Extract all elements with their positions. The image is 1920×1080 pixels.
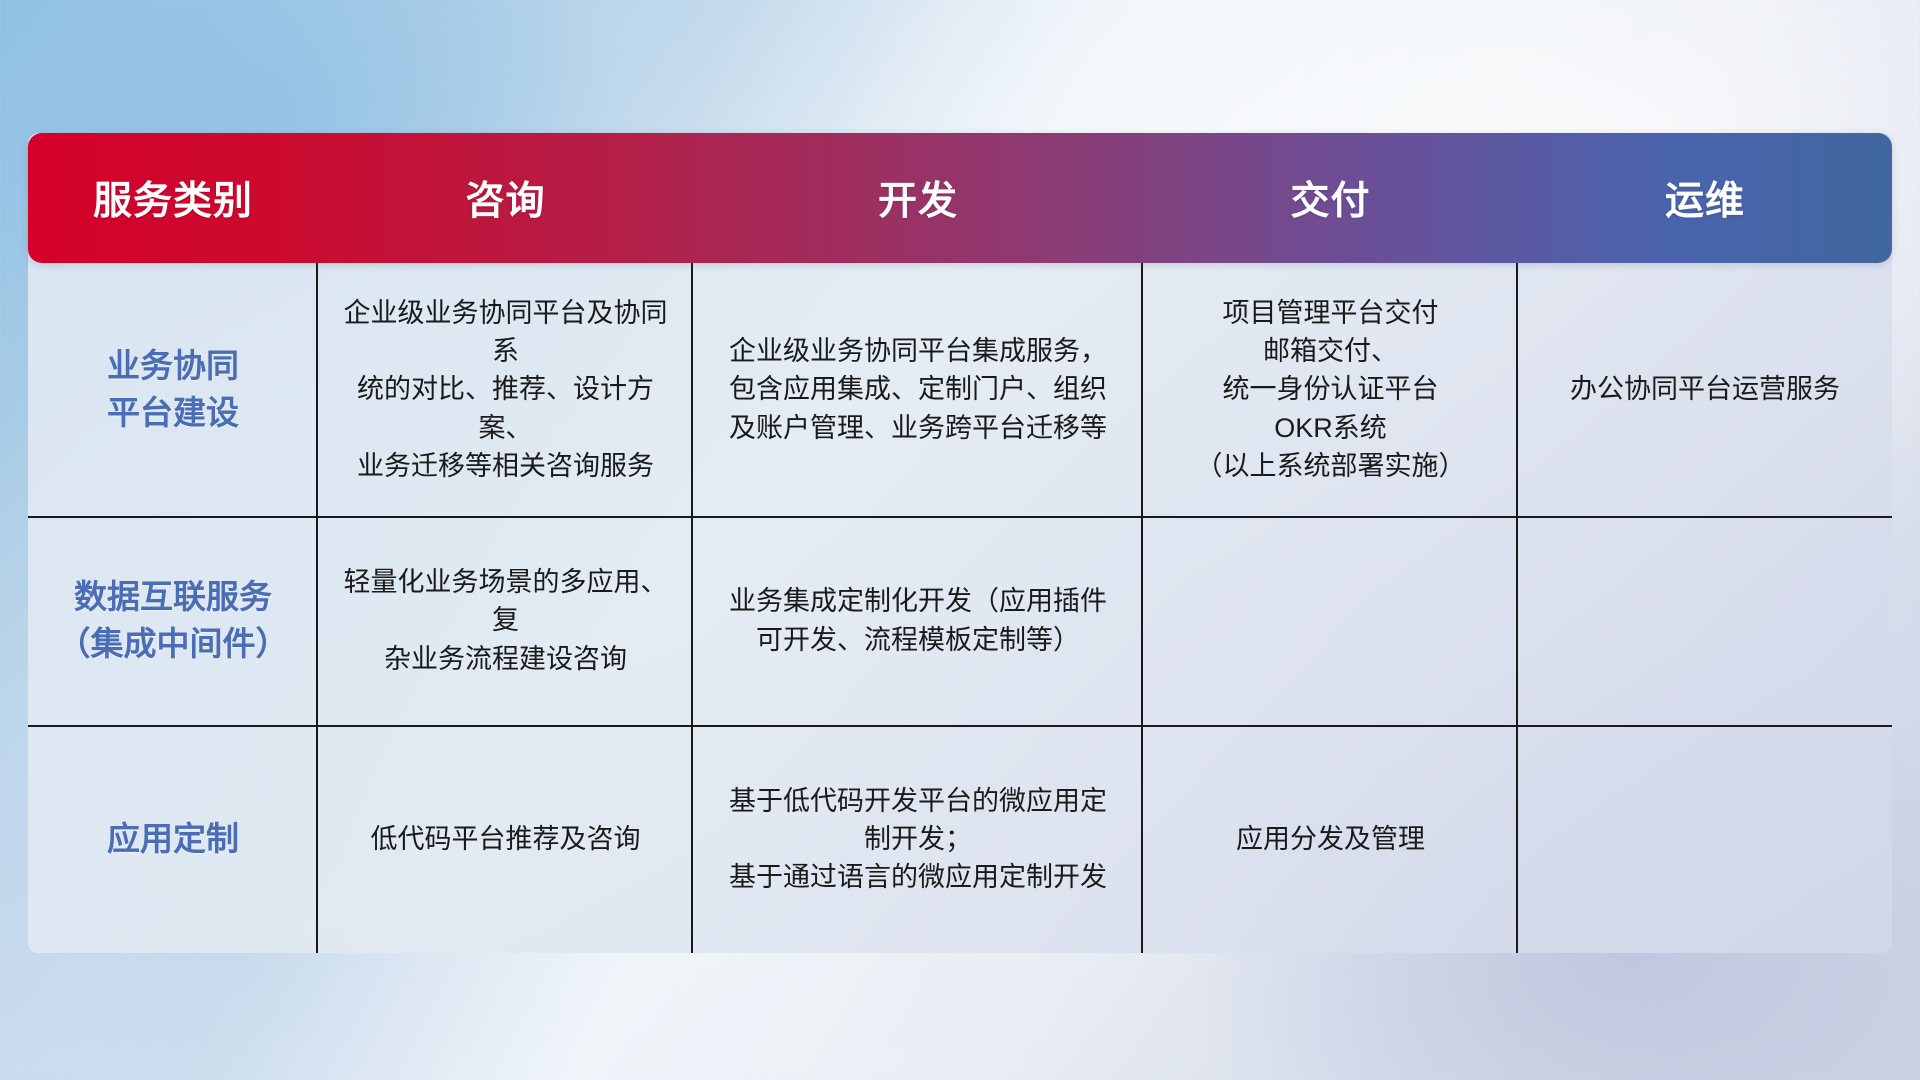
cell-consulting: 企业级业务协同平台及协同系 统的对比、推荐、设计方案、 业务迁移等相关咨询服务 bbox=[318, 263, 693, 516]
cell-consulting: 轻量化业务场景的多应用、复 杂业务流程建设咨询 bbox=[318, 516, 693, 725]
cell-delivery: 应用分发及管理 bbox=[1143, 725, 1518, 953]
service-category-table: 服务类别 咨询 开发 交付 运维 业务协同 平台建设 企业级业务协同平台及协同系… bbox=[28, 133, 1892, 953]
cell-text: 轻量化业务场景的多应用、复 杂业务流程建设咨询 bbox=[332, 563, 679, 678]
table-row: 业务协同 平台建设 企业级业务协同平台及协同系 统的对比、推荐、设计方案、 业务… bbox=[28, 263, 1892, 516]
cell-development: 业务集成定制化开发（应用插件 可开发、流程模板定制等） bbox=[693, 516, 1143, 725]
cell-operations bbox=[1518, 516, 1892, 725]
cell-consulting: 低代码平台推荐及咨询 bbox=[318, 725, 693, 953]
cell-text: 基于低代码开发平台的微应用定 制开发； 基于通过语言的微应用定制开发 bbox=[729, 782, 1107, 897]
slide-canvas: 服务类别 咨询 开发 交付 运维 业务协同 平台建设 企业级业务协同平台及协同系… bbox=[0, 0, 1920, 1080]
table-body-rows: 业务协同 平台建设 企业级业务协同平台及协同系 统的对比、推荐、设计方案、 业务… bbox=[28, 263, 1892, 953]
cell-text: 低代码平台推荐及咨询 bbox=[371, 820, 641, 858]
cell-category: 业务协同 平台建设 bbox=[28, 263, 318, 516]
cell-delivery: 项目管理平台交付 邮箱交付、 统一身份认证平台 OKR系统 （以上系统部署实施） bbox=[1143, 263, 1518, 516]
table-header-row: 服务类别 咨询 开发 交付 运维 bbox=[28, 133, 1892, 263]
header-cell-category: 服务类别 bbox=[28, 170, 318, 226]
cell-text: 企业级业务协同平台集成服务， 包含应用集成、定制门户、组织 及账户管理、业务跨平… bbox=[729, 332, 1107, 447]
category-label: 业务协同 平台建设 bbox=[107, 343, 239, 437]
header-cell-operations: 运维 bbox=[1518, 170, 1892, 226]
cell-category: 应用定制 bbox=[28, 725, 318, 953]
cell-development: 企业级业务协同平台集成服务， 包含应用集成、定制门户、组织 及账户管理、业务跨平… bbox=[693, 263, 1143, 516]
cell-operations bbox=[1518, 725, 1892, 953]
cell-category: 数据互联服务 （集成中间件） bbox=[28, 516, 318, 725]
cell-development: 基于低代码开发平台的微应用定 制开发； 基于通过语言的微应用定制开发 bbox=[693, 725, 1143, 953]
table-row: 应用定制 低代码平台推荐及咨询 基于低代码开发平台的微应用定 制开发； 基于通过… bbox=[28, 725, 1892, 953]
category-label: 数据互联服务 （集成中间件） bbox=[58, 574, 289, 668]
cell-operations: 办公协同平台运营服务 bbox=[1518, 263, 1892, 516]
header-cell-development: 开发 bbox=[693, 170, 1143, 226]
cell-text: 项目管理平台交付 邮箱交付、 统一身份认证平台 OKR系统 （以上系统部署实施） bbox=[1196, 294, 1466, 486]
cell-text: 企业级业务协同平台及协同系 统的对比、推荐、设计方案、 业务迁移等相关咨询服务 bbox=[332, 294, 679, 486]
cell-text: 业务集成定制化开发（应用插件 可开发、流程模板定制等） bbox=[729, 582, 1107, 659]
cell-text: 应用分发及管理 bbox=[1236, 820, 1425, 858]
cell-delivery bbox=[1143, 516, 1518, 725]
header-cell-consulting: 咨询 bbox=[318, 170, 693, 226]
table-row: 数据互联服务 （集成中间件） 轻量化业务场景的多应用、复 杂业务流程建设咨询 业… bbox=[28, 516, 1892, 725]
category-label: 应用定制 bbox=[107, 816, 239, 863]
header-cell-delivery: 交付 bbox=[1143, 170, 1518, 226]
cell-text: 办公协同平台运营服务 bbox=[1570, 370, 1840, 408]
